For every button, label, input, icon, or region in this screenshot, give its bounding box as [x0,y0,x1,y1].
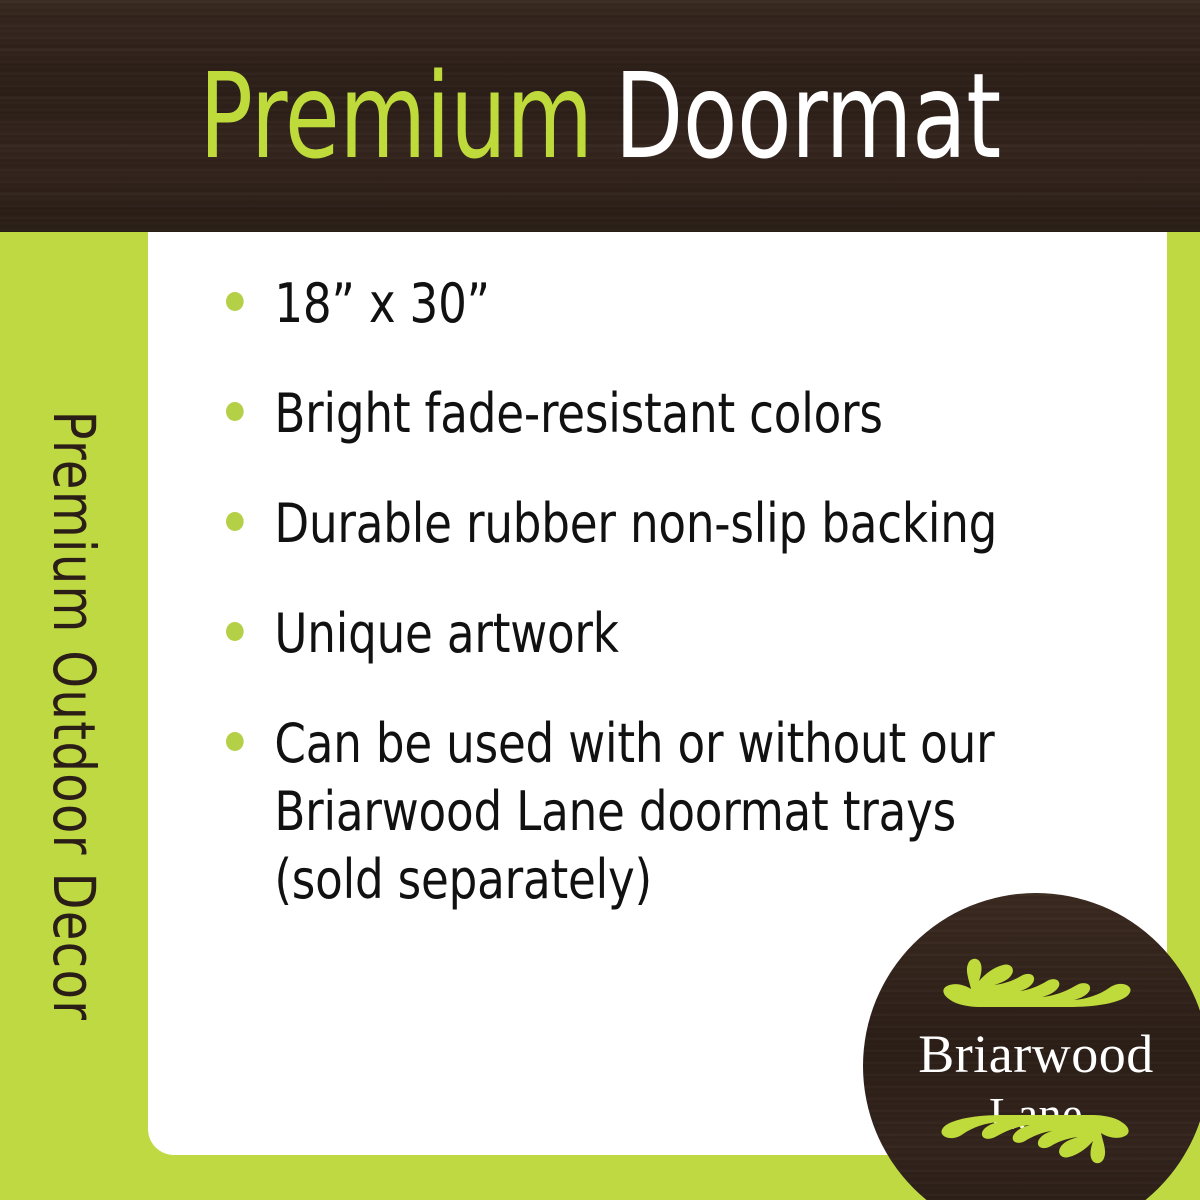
page-title: Premium Doormat [96,0,1104,232]
feature-text: 18” x 30” [274,270,1091,338]
feature-text-line-2: Briarwood Lane doormat trays [274,778,1091,846]
leaf-branch-icon [941,949,1131,1007]
list-item: Can be used with or without our Briarwoo… [226,710,1091,914]
brand-name-line-1: Briarwood [863,1027,1200,1081]
list-item: 18” x 30” [226,270,1091,338]
page-title-accent: Premium [199,57,593,175]
bullet-dot-icon [226,622,244,641]
bullet-dot-icon [226,292,244,311]
feature-text: Bright fade-resistant colors [274,380,1091,448]
product-infographic: Premium Doormat Premium Outdoor Decor 18… [0,0,1200,1200]
brand-logo-badge: Briarwood Lane [863,893,1200,1200]
header-banner: Premium Doormat [0,0,1200,232]
feature-list: 18” x 30” Bright fade-resistant colors D… [226,270,1156,914]
list-item: Bright fade-resistant colors [226,380,1091,448]
feature-text-line-1: Can be used with or without our [274,710,1091,778]
sidebar-category-label: Premium Outdoor Decor [45,411,103,1022]
bullet-dot-icon [226,732,244,751]
feature-text: Unique artwork [274,600,1091,668]
feature-text: Durable rubber non-slip backing [274,490,1091,558]
list-item: Durable rubber non-slip backing [226,490,1091,558]
list-item: Unique artwork [226,600,1091,668]
bullet-dot-icon [226,512,244,531]
bullet-dot-icon [226,402,244,421]
leaf-branch-icon [941,1115,1131,1173]
brand-logo-inner: Briarwood Lane [863,893,1200,1200]
sidebar-vertical-band: Premium Outdoor Decor [0,232,148,1200]
page-title-main: Doormat [615,57,1001,175]
